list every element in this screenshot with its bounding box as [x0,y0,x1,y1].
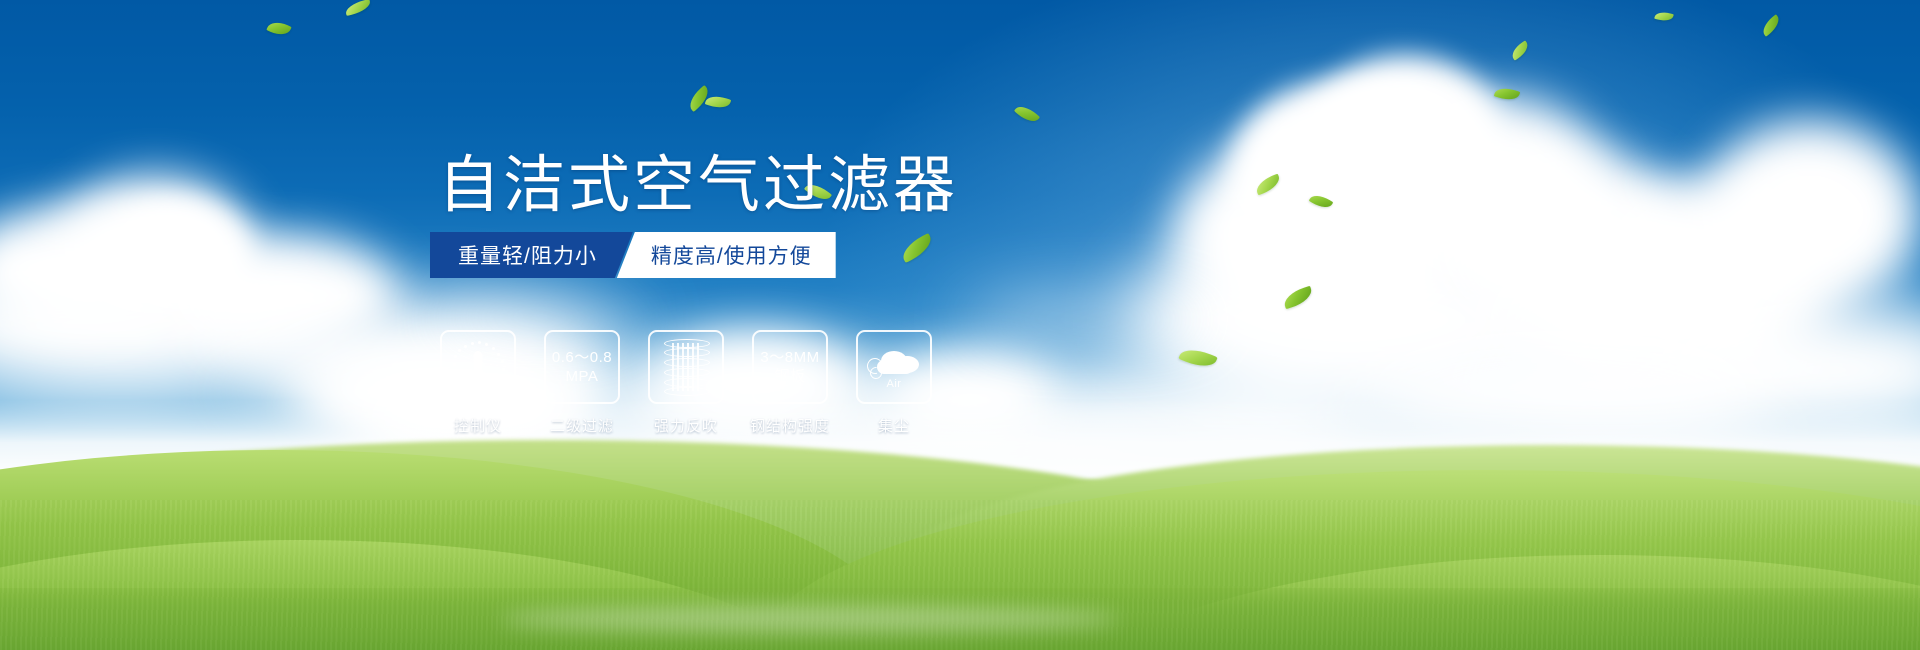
hero-banner: 自洁式空气过滤器 重量轻/阻力小 精度高/使用方便 NO OFF [0,0,1920,650]
feature-item-blowback[interactable]: 强力反吹 [646,330,726,436]
tagline-tab-1[interactable]: 重量轻/阻力小 [430,232,633,278]
feature-icon-box: 0.6～0.8 MPA [544,330,620,404]
steel-thickness: 3～8MM [760,348,819,367]
filter-coil-icon [664,339,708,395]
feature-icon-list: NO OFF [438,330,934,436]
feature-label: 钢结构强度 [750,415,830,436]
feature-icon-box: 3～8MM 钢板 [752,330,828,404]
gauge-needle [474,351,483,385]
gauge-max-label: OFF [496,386,509,392]
air-cloud-icon: Air [867,345,921,389]
feature-label: 强力反吹 [654,415,718,436]
tagline-tab-2[interactable]: 精度高/使用方便 [617,232,836,278]
pressure-unit: MPA [552,367,612,386]
title-leaf-icon [705,93,732,112]
steel-plate-text-icon: 3～8MM 钢板 [760,348,819,386]
banner-content: 自洁式空气过滤器 重量轻/阻力小 精度高/使用方便 NO OFF [0,0,1920,650]
feature-label: 集尘 [878,415,910,436]
gauge-dial-icon: NO OFF [449,341,507,393]
steel-material: 钢板 [760,367,819,386]
gauge-min-label: NO [448,373,458,379]
feature-icon-box: Air [856,330,932,404]
feature-item-dust[interactable]: Air 集尘 [854,330,934,436]
air-label: Air [867,378,921,390]
feature-item-steel[interactable]: 3～8MM 钢板 钢结构强度 [750,330,830,436]
feature-tagline-tabs: 重量轻/阻力小 精度高/使用方便 [430,232,836,278]
feature-label: 二级过滤 [550,415,614,436]
pressure-text-icon: 0.6～0.8 MPA [552,348,612,386]
feature-icon-box: NO OFF [440,330,516,404]
pressure-range: 0.6～0.8 [552,348,612,367]
feature-label: 控制仪 [454,415,502,436]
feature-item-pressure[interactable]: 0.6～0.8 MPA 二级过滤 [542,330,622,436]
feature-icon-box [648,330,724,404]
page-title: 自洁式空气过滤器 [438,150,958,222]
feature-item-controller[interactable]: NO OFF [438,330,518,436]
